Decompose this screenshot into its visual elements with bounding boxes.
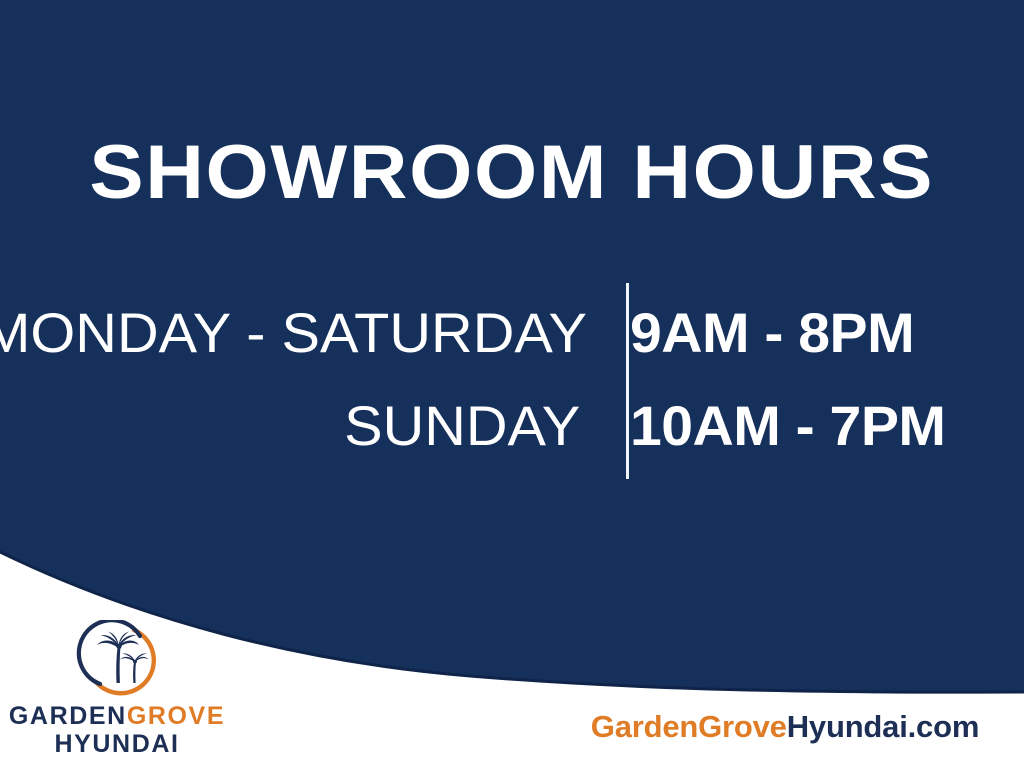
wordmark-garden: GARDEN xyxy=(9,702,127,730)
url-brand-part: GardenGrove xyxy=(591,709,787,744)
hours-row: MONDAY - SATURDAY 9AM - 8PM xyxy=(0,291,1024,375)
hours-time-value: 9AM - 8PM xyxy=(604,303,1024,363)
wordmark-grove: GROVE xyxy=(127,702,225,730)
showroom-hours-poster: SHOWROOM HOURS MONDAY - SATURDAY 9AM - 8… xyxy=(0,0,1024,768)
hours-days-text: MONDAY - SATURDAY xyxy=(0,303,587,363)
hours-days-label: SUNDAY xyxy=(0,396,604,456)
hours-time-value: 10AM - 7PM xyxy=(604,396,1024,456)
hours-table: MONDAY - SATURDAY 9AM - 8PM SUNDAY 10AM … xyxy=(0,279,1024,484)
hours-time-text: 9AM - 8PM xyxy=(630,303,914,363)
palm-tree-circle-icon xyxy=(6,620,228,698)
page-title: SHOWROOM HOURS xyxy=(90,133,935,213)
dealer-wordmark: GARDENGROVE xyxy=(6,702,228,730)
hours-row: SUNDAY 10AM - 7PM xyxy=(0,384,1024,468)
url-domain-part: Hyundai.com xyxy=(787,709,979,744)
hours-divider xyxy=(626,283,629,479)
hours-days-text: SUNDAY xyxy=(344,396,580,456)
hours-days-label: MONDAY - SATURDAY xyxy=(0,303,604,363)
dealer-logo: GARDENGROVE HYUNDAI xyxy=(6,620,228,762)
hours-time-text: 10AM - 7PM xyxy=(630,396,945,456)
website-url[interactable]: GardenGroveHyundai.com xyxy=(560,708,1010,746)
page-title-wrap: SHOWROOM HOURS xyxy=(0,133,1024,213)
wordmark-hyundai: HYUNDAI xyxy=(6,730,228,758)
